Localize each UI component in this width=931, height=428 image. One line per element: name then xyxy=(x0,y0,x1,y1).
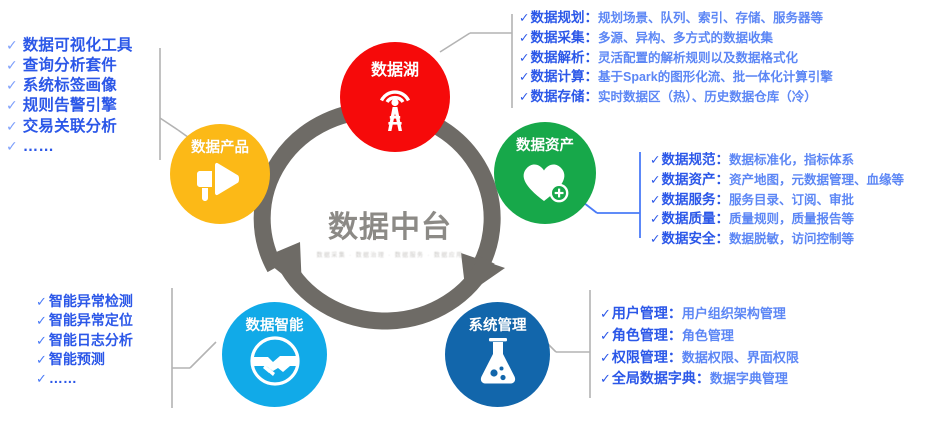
node-data-intelligence-label: 数据智能 xyxy=(246,314,304,335)
arrow-ring-lower-arc xyxy=(288,260,487,321)
list-item-term: 数据规划： xyxy=(530,8,598,27)
check-icon: ✓ xyxy=(650,171,660,189)
handshake-icon xyxy=(247,335,303,387)
check-icon: ✓ xyxy=(519,9,529,27)
list-item-term: 数据服务： xyxy=(661,190,729,209)
check-icon: ✓ xyxy=(36,294,47,311)
list-item-term: 数据安全： xyxy=(661,229,729,248)
check-icon: ✓ xyxy=(6,97,18,115)
list-item: ✓数据规范：数据标准化，指标体系 xyxy=(650,150,904,170)
check-icon: ✓ xyxy=(36,333,47,350)
list-item-desc: 灵活配置的解析规则以及数据格式化 xyxy=(598,50,798,68)
list-item-desc: 质量规则，质量报告等 xyxy=(729,211,854,229)
connector-data-lake xyxy=(440,14,512,108)
list-item-term: 权限管理： xyxy=(612,347,682,368)
megaphone-icon xyxy=(194,157,246,203)
connector-data-intelligence xyxy=(172,288,216,408)
check-icon: ✓ xyxy=(600,305,611,325)
list-item: ✓数据解析：灵活配置的解析规则以及数据格式化 xyxy=(519,48,833,68)
check-icon: ✓ xyxy=(650,191,660,209)
list-item: ✓数据计算：基于Spark的图形化流、批一体化计算引擎 xyxy=(519,67,833,87)
list-item-term: 用户管理： xyxy=(612,303,682,324)
diagram-canvas: 数据中台 数据采集 · 数据治理 · 数据服务 · 数据应用 数据湖 数据资产 xyxy=(0,0,931,428)
node-data-products-label: 数据产品 xyxy=(191,136,249,157)
check-icon: ✓ xyxy=(6,138,18,156)
list-item-term: 智能异常定位 xyxy=(49,311,133,330)
check-icon: ✓ xyxy=(6,37,18,55)
list-item: ✓数据存储：实时数据区（热）、历史数据仓库（冷） xyxy=(519,87,833,107)
list-item-term: 角色管理： xyxy=(612,325,682,346)
list-system-management: ✓用户管理：用户组织架构管理✓角色管理：角色管理✓权限管理：数据权限、界面权限✓… xyxy=(600,303,799,390)
list-item: ✓数据服务：服务目录、订阅、审批 xyxy=(650,190,904,210)
check-icon: ✓ xyxy=(519,68,529,86)
list-item-desc: 角色管理 xyxy=(682,326,734,346)
check-icon: ✓ xyxy=(650,230,660,248)
list-item-desc: 多源、异构、多方式的数据收集 xyxy=(598,30,773,48)
list-item-term: 智能预测 xyxy=(49,350,105,369)
list-item-term: 数据采集： xyxy=(530,28,598,47)
list-item: ✓数据可视化工具 xyxy=(6,36,133,56)
list-item-term: 智能异常检测 xyxy=(49,292,133,311)
node-data-lake-label: 数据湖 xyxy=(371,56,419,80)
list-item-term: 全局数据字典： xyxy=(612,368,710,389)
check-icon: ✓ xyxy=(519,49,529,67)
list-item: ✓权限管理：数据权限、界面权限 xyxy=(600,347,799,369)
list-item: ✓系统标签画像 xyxy=(6,76,133,96)
check-icon: ✓ xyxy=(600,349,611,369)
list-item: ✓规则告警引擎 xyxy=(6,96,133,116)
node-data-intelligence[interactable]: 数据智能 xyxy=(222,302,327,407)
list-item: ✓数据安全：数据脱敏，访问控制等 xyxy=(650,229,904,249)
list-item: ✓数据资产：资产地图，元数据管理、血缘等 xyxy=(650,170,904,190)
node-system-management-label: 系统管理 xyxy=(469,314,527,335)
node-data-lake[interactable]: 数据湖 xyxy=(340,42,450,152)
list-data-assets: ✓数据规范：数据标准化，指标体系✓数据资产：资产地图，元数据管理、血缘等✓数据服… xyxy=(650,150,904,249)
list-item: ✓智能异常检测 xyxy=(36,292,133,311)
check-icon: ✓ xyxy=(6,77,18,95)
check-icon: ✓ xyxy=(36,371,47,388)
list-item-desc: 数据脱敏，访问控制等 xyxy=(729,231,854,249)
list-item-term: …… xyxy=(49,369,77,388)
check-icon: ✓ xyxy=(519,88,529,106)
list-item: ✓智能预测 xyxy=(36,350,133,369)
node-data-assets[interactable]: 数据资产 xyxy=(494,122,596,224)
list-item: ✓用户管理：用户组织架构管理 xyxy=(600,303,799,325)
list-item: ✓数据质量：质量规则，质量报告等 xyxy=(650,209,904,229)
list-item-term: 查询分析套件 xyxy=(23,56,117,76)
list-item-term: 数据规范： xyxy=(661,150,729,169)
list-data-lake: ✓数据规划：规划场景、队列、索引、存储、服务器等✓数据采集：多源、异构、多方式的… xyxy=(519,8,833,107)
list-item: ✓智能日志分析 xyxy=(36,331,133,350)
list-item-desc: 数据权限、界面权限 xyxy=(682,348,799,368)
list-item-term: 智能日志分析 xyxy=(49,331,133,350)
list-item-desc: 实时数据区（热）、历史数据仓库（冷） xyxy=(598,89,817,107)
list-item-term: 数据解析： xyxy=(530,48,598,67)
flask-icon xyxy=(474,335,522,387)
heart-plus-icon xyxy=(517,155,573,205)
broadcast-tower-icon xyxy=(369,80,421,134)
list-item: ✓…… xyxy=(6,137,133,157)
check-icon: ✓ xyxy=(36,352,47,369)
check-icon: ✓ xyxy=(650,151,660,169)
check-icon: ✓ xyxy=(6,118,18,136)
list-item-desc: 服务目录、订阅、审批 xyxy=(729,192,854,210)
list-item: ✓角色管理：角色管理 xyxy=(600,325,799,347)
list-item-desc: 数据标准化，指标体系 xyxy=(729,152,854,170)
list-item-term: 数据资产： xyxy=(661,170,729,189)
list-data-intelligence: ✓智能异常检测✓智能异常定位✓智能日志分析✓智能预测✓…… xyxy=(36,292,133,388)
list-item-term: 数据计算： xyxy=(530,67,598,86)
node-data-assets-label: 数据资产 xyxy=(516,134,574,155)
list-item-desc: 资产地图，元数据管理、血缘等 xyxy=(729,172,904,190)
list-item-term: 数据质量： xyxy=(661,209,729,228)
list-item-term: 数据存储： xyxy=(530,87,598,106)
list-item: ✓智能异常定位 xyxy=(36,311,133,330)
list-item: ✓数据采集：多源、异构、多方式的数据收集 xyxy=(519,28,833,48)
check-icon: ✓ xyxy=(650,210,660,228)
list-item-term: 交易关联分析 xyxy=(23,117,117,137)
list-item-desc: 基于Spark的图形化流、批一体化计算引擎 xyxy=(598,69,833,87)
list-item-desc: 数据字典管理 xyxy=(710,369,788,389)
check-icon: ✓ xyxy=(519,29,529,47)
list-data-products: ✓数据可视化工具✓查询分析套件✓系统标签画像✓规则告警引擎✓交易关联分析✓…… xyxy=(6,36,133,157)
list-item: ✓…… xyxy=(36,369,133,388)
list-item: ✓数据规划：规划场景、队列、索引、存储、服务器等 xyxy=(519,8,833,28)
list-item-desc: 用户组织架构管理 xyxy=(682,304,786,324)
list-item: ✓查询分析套件 xyxy=(6,56,133,76)
check-icon: ✓ xyxy=(36,313,47,330)
check-icon: ✓ xyxy=(600,370,611,390)
list-item: ✓交易关联分析 xyxy=(6,117,133,137)
list-item-term: …… xyxy=(23,137,54,157)
list-item-term: 系统标签画像 xyxy=(23,76,117,96)
check-icon: ✓ xyxy=(6,57,18,75)
node-system-management[interactable]: 系统管理 xyxy=(445,302,550,407)
list-item-term: 数据可视化工具 xyxy=(23,36,133,56)
list-item: ✓全局数据字典：数据字典管理 xyxy=(600,368,799,390)
list-item-desc: 规划场景、队列、索引、存储、服务器等 xyxy=(598,10,823,28)
check-icon: ✓ xyxy=(600,327,611,347)
node-data-products[interactable]: 数据产品 xyxy=(170,124,270,224)
list-item-term: 规则告警引擎 xyxy=(23,96,117,116)
